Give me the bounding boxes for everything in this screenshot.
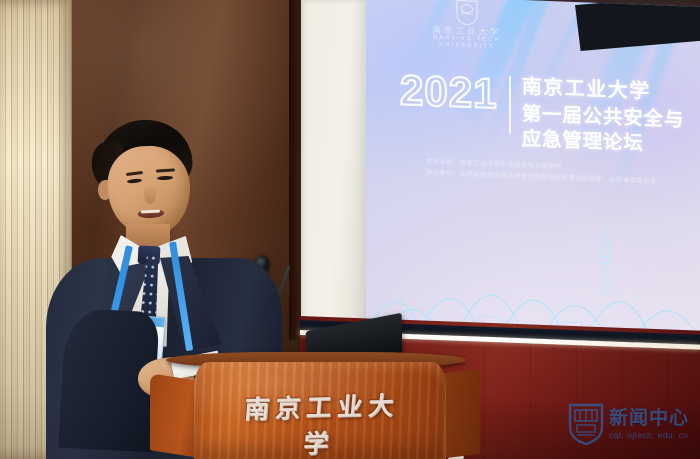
news-center-watermark: 新闻中心 cqt. njtech. edu. cn xyxy=(568,400,696,448)
university-crest: 南京工业大学 NANJING TECH UNIVERSITY xyxy=(402,0,532,52)
slide-title-line1: 南京工业大学 xyxy=(522,75,700,106)
slide-title-block: 2021 南京工业大学 第一届公共安全与应急管理论坛 xyxy=(400,69,700,159)
watermark-text: 新闻中心 cqt. njtech. edu. cn xyxy=(609,409,689,440)
shield-icon xyxy=(456,0,478,26)
podium: 南京工业大学 xyxy=(150,352,480,459)
projection-screen: 南京工业大学 NANJING TECH UNIVERSITY 2021 南京工业… xyxy=(366,0,700,357)
wall-cream-column xyxy=(301,0,369,348)
slide-title-lines: 南京工业大学 第一届公共安全与应急管理论坛 xyxy=(522,74,700,159)
photo-scene: 南京工业大学 NANJING TECH UNIVERSITY 2021 南京工业… xyxy=(0,0,700,459)
tower-icon xyxy=(598,223,612,296)
watermark-title: 新闻中心 xyxy=(609,409,689,428)
shield-icon xyxy=(568,403,604,445)
wall-panel-edge xyxy=(289,0,301,340)
slide-year: 2021 xyxy=(400,69,497,115)
watermark-url: cqt. njtech. edu. cn xyxy=(609,431,689,440)
nose xyxy=(144,184,156,204)
podium-engraving: 南京工业大学 xyxy=(225,385,416,459)
title-divider xyxy=(509,76,510,134)
slide-title-line2: 第一届公共安全与应急管理论坛 xyxy=(522,102,700,159)
